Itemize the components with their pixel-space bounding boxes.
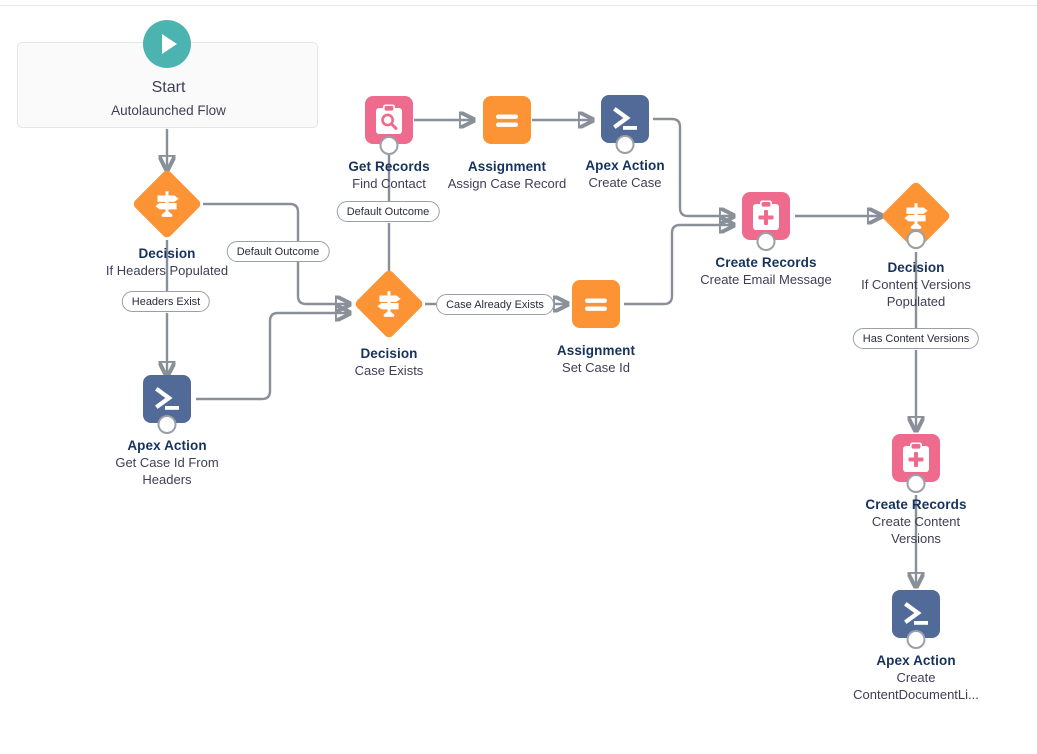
equals-glyph [572,280,620,328]
node-name-line2: Versions [826,530,1006,547]
clipboard-search-icon [365,96,413,144]
node-type-label: Apex Action [535,158,715,174]
node-type-label: Create Records [826,497,1006,513]
terminal-icon [892,590,940,638]
node-name-line1: If Content Versions [826,276,1006,293]
node-name-label: If Headers Populated [77,262,257,279]
start-title: Start [18,79,319,97]
node-name-line1: Create [826,669,1006,686]
top-divider [0,5,1037,6]
node-create-records-create-email-message[interactable]: Create Records Create Email Message [742,192,790,240]
outcome-pill-default-outcome-case[interactable]: Default Outcome [337,201,440,222]
node-create-records-create-content-versions[interactable]: Create Records Create Content Versions [892,434,940,482]
decision-diamond [881,181,951,251]
terminal-icon [143,375,191,423]
node-type-label: Apex Action [826,653,1006,669]
play-glyph [143,20,191,68]
node-type-label: Assignment [506,343,686,359]
node-status-badge [380,136,399,155]
node-status-badge [616,135,635,154]
clipboard-plus-icon [742,192,790,240]
equals-glyph [483,96,531,144]
node-decision-if-content-versions-populated[interactable]: Decision If Content Versions Populated [881,181,951,251]
node-name-label: Case Exists [299,362,479,379]
equals-icon [483,96,531,144]
node-decision-case-exists[interactable]: Decision Case Exists [354,269,424,339]
node-type-label: Decision [826,260,1006,276]
node-apex-get-case-id-from-headers[interactable]: Apex Action Get Case Id From Headers [143,375,191,423]
node-name-label: Create Case [535,174,715,191]
outcome-pill-case-already-exists[interactable]: Case Already Exists [436,294,554,315]
decision-diamond [132,169,202,239]
node-assignment-set-case-id[interactable]: Assignment Set Case Id [572,280,620,328]
node-status-badge [907,630,926,649]
outcome-pill-headers-exist[interactable]: Headers Exist [122,291,210,312]
start-subtitle: Autolaunched Flow [18,103,319,118]
flow-canvas[interactable]: Start Autolaunched Flow Decision If Head… [0,0,1037,754]
node-decision-if-headers-populated[interactable]: Decision If Headers Populated [132,169,202,239]
node-get-records-find-contact[interactable]: Get Records Find Contact [365,96,413,144]
node-status-badge [757,232,776,251]
clipboard-plus-icon [892,434,940,482]
node-name-line2: ContentDocumentLi... [826,686,1006,703]
play-icon[interactable] [143,20,191,68]
node-status-badge [158,415,177,434]
node-name-line2: Headers [77,471,257,488]
node-name-line1: Get Case Id From [77,454,257,471]
node-name-label: Set Case Id [506,359,686,376]
node-status-badge [907,474,926,493]
node-apex-create-contentdocumentlink[interactable]: Apex Action Create ContentDocumentLi... [892,590,940,638]
outcome-pill-default-outcome-headers[interactable]: Default Outcome [227,241,330,262]
outcome-pill-has-content-versions[interactable]: Has Content Versions [853,328,979,349]
terminal-icon [601,95,649,143]
signpost-icon [372,287,406,321]
node-name-line1: Create Content [826,513,1006,530]
node-type-label: Apex Action [77,438,257,454]
signpost-icon [899,199,933,233]
node-type-label: Decision [299,346,479,362]
equals-icon [572,280,620,328]
node-name-line2: Populated [826,293,1006,310]
node-assignment-assign-case-record[interactable]: Assignment Assign Case Record [483,96,531,144]
signpost-icon [150,187,184,221]
node-status-badge [907,230,926,249]
decision-diamond [354,269,424,339]
node-apex-create-case[interactable]: Apex Action Create Case [601,95,649,143]
